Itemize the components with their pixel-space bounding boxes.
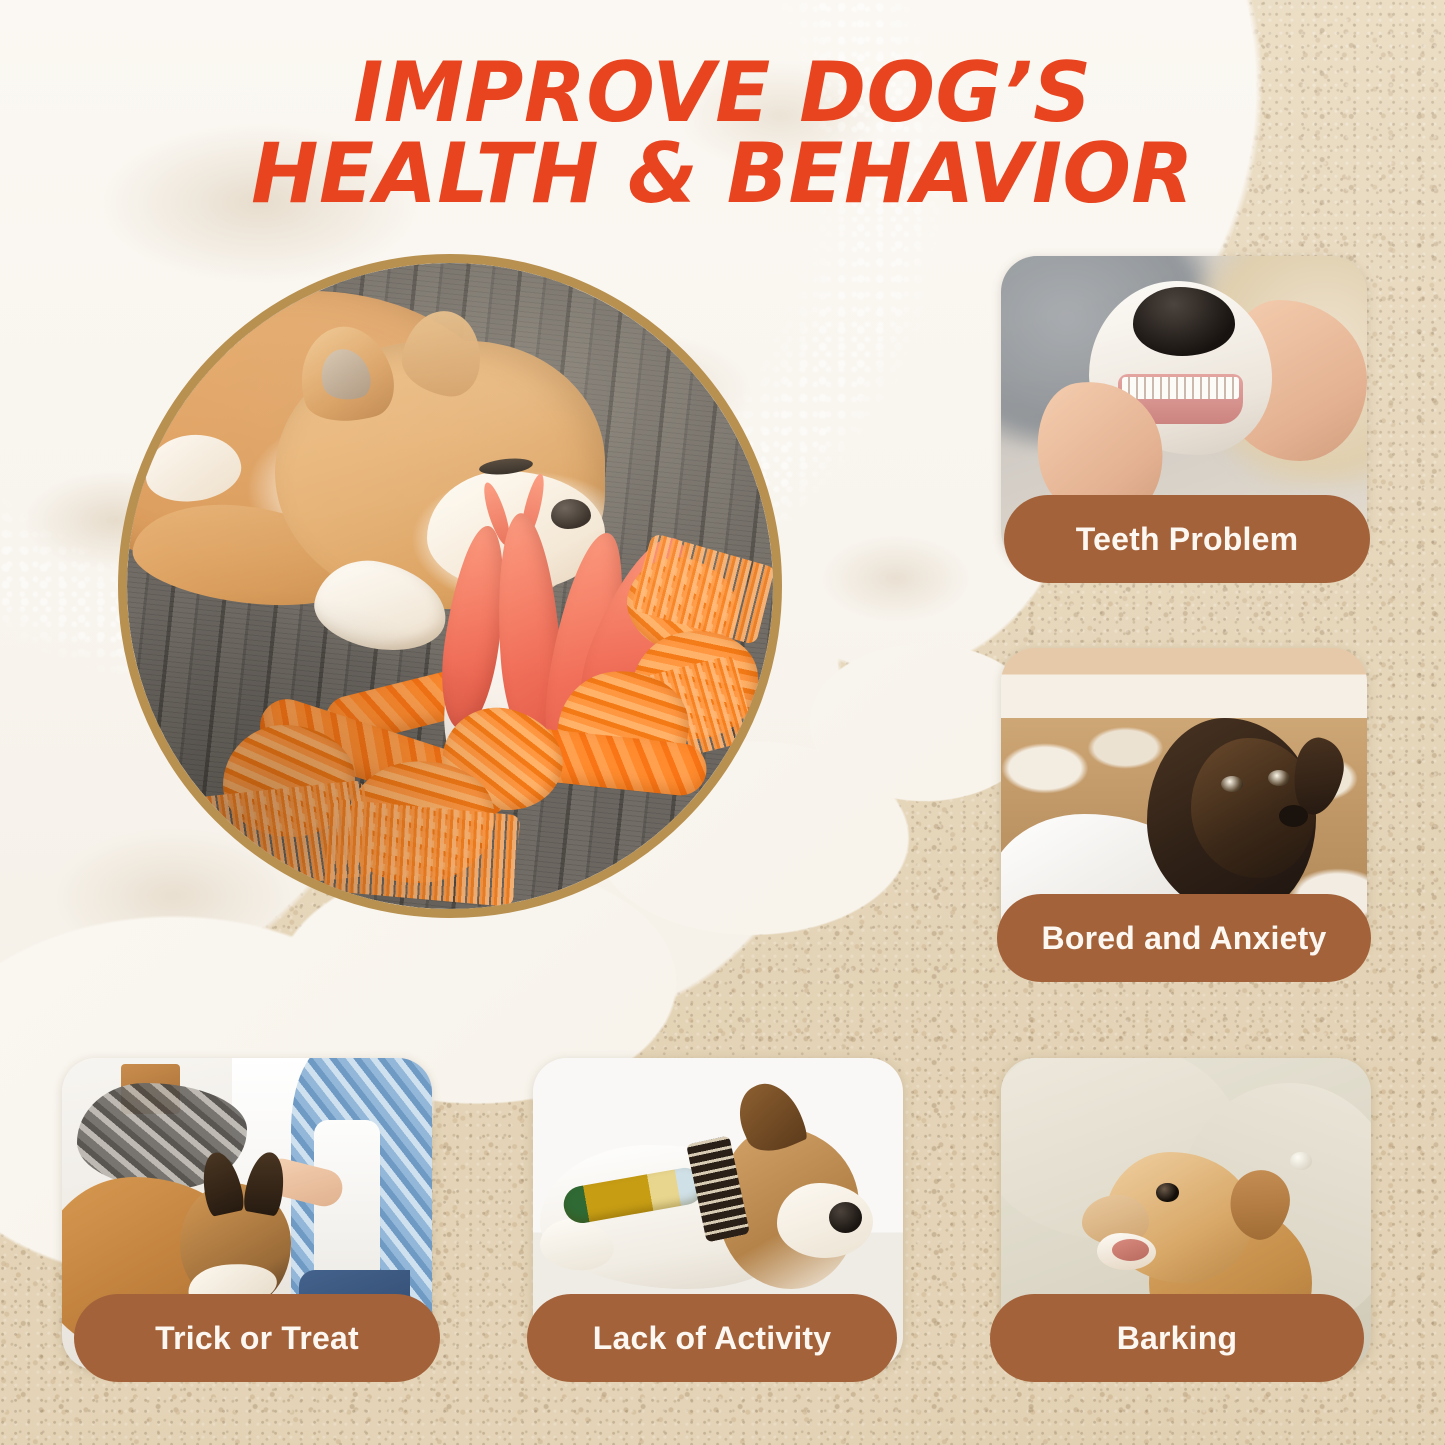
dog-teeth: [1122, 377, 1239, 399]
label-lack-of-activity[interactable]: Lack of Activity: [527, 1294, 897, 1382]
label-teeth-problem[interactable]: Teeth Problem: [1004, 495, 1370, 583]
bored-wall: [1001, 648, 1367, 718]
label-teeth-problem-text: Teeth Problem: [1076, 521, 1299, 558]
label-bored-and-anxiety-text: Bored and Anxiety: [1042, 920, 1327, 957]
poster-canvas: IMPROVE DOG’S HEALTH & BEHAVIOR: [0, 0, 1445, 1445]
puppy-eye-right: [1268, 770, 1290, 786]
chihuahua-eye: [1156, 1183, 1178, 1202]
label-barking[interactable]: Barking: [990, 1294, 1364, 1382]
couch-button: [1290, 1152, 1312, 1171]
label-barking-text: Barking: [1117, 1320, 1238, 1357]
label-trick-or-treat[interactable]: Trick or Treat: [74, 1294, 440, 1382]
hero-circle-image: [118, 254, 782, 918]
page-title: IMPROVE DOG’S HEALTH & BEHAVIOR: [22, 52, 1424, 215]
label-trick-or-treat-text: Trick or Treat: [155, 1320, 359, 1357]
hero-lighting: [127, 263, 773, 909]
label-lack-of-activity-text: Lack of Activity: [593, 1320, 832, 1357]
label-bored-and-anxiety[interactable]: Bored and Anxiety: [997, 894, 1371, 982]
puppy-eye-left: [1221, 776, 1243, 792]
chihuahua-tongue: [1112, 1239, 1149, 1261]
hero-photo-shiba-with-toy: [127, 263, 773, 909]
lazy-dog-nose: [829, 1202, 862, 1233]
